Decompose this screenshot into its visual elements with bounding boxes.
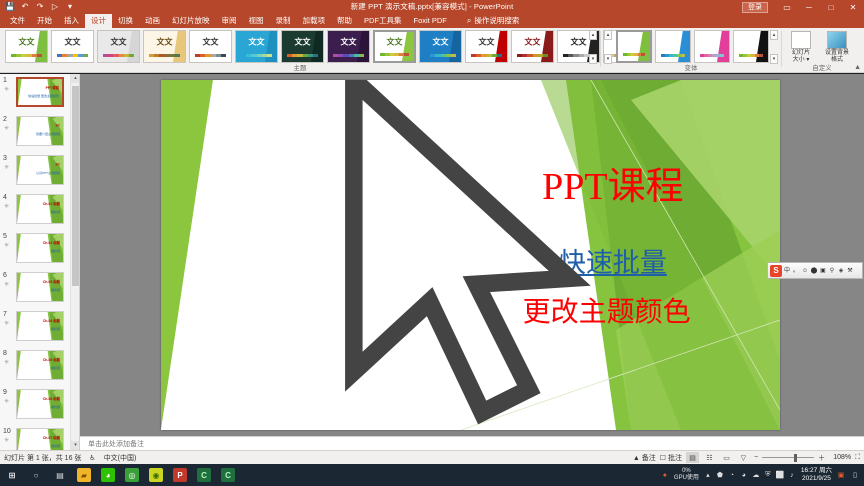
thumb-color-swatches [425, 54, 456, 57]
close-button[interactable]: ✕ [842, 0, 864, 14]
theme-thumbnail-2[interactable]: 文文 [97, 30, 140, 63]
slide-mini-title: PPT课程 [46, 86, 59, 90]
file-explorer-icon: ▰ [77, 468, 91, 482]
thumb-color-swatches [103, 54, 134, 57]
thumb-accent-shape [678, 31, 690, 62]
ribbon-tab-13[interactable]: Foxit PDF [408, 14, 453, 28]
slide-animation-indicator-icon: ✳ [4, 437, 9, 444]
ribbon-group-variants: ▴ ▾ ▴ ▾ 变体 [602, 28, 780, 73]
thumb-sample-text: 文文 [387, 37, 403, 48]
slide-thumbnail-item[interactable]: 8✳Ch-05 标题副标题 [0, 347, 79, 386]
slide-mini-subtitle: 副标题 [51, 327, 60, 331]
current-slide[interactable]: PPT课程 快速批量 更改主题颜色 [161, 80, 780, 430]
tray-network-icon[interactable]: ◔ [727, 469, 737, 481]
thumb-accent-shape [402, 32, 414, 61]
notes-toggle-label: 备注 [642, 455, 656, 462]
thumb-sample-text: 文文 [65, 37, 81, 48]
start-button-icon: ⊞ [5, 468, 19, 482]
lightbulb-icon: ⌕ [467, 17, 471, 25]
slide-size-icon [791, 31, 811, 49]
zoom-slider-track [762, 457, 814, 458]
slide-mini-title: PT [56, 124, 60, 128]
thumb-sample-text: 文文 [341, 37, 357, 48]
ime-screenshot-icon[interactable]: ▣ [819, 266, 827, 276]
thumb-color-swatches [739, 54, 763, 57]
slide-mini-graphic [17, 195, 63, 223]
zoom-in-button[interactable]: ＋ [818, 453, 825, 463]
thumb-sample-text: 文文 [203, 37, 219, 48]
color-swatch [681, 54, 685, 57]
thumb-accent-shape [717, 31, 729, 62]
format-background-label-2: 格式 [823, 57, 851, 64]
slide-mini-title: Ch-07 标题 [43, 436, 60, 440]
minimize-button[interactable]: ─ [798, 0, 820, 14]
tell-me-search[interactable]: ⌕操作说明搜索 [461, 14, 525, 28]
group-separator [600, 31, 601, 67]
ime-user-icon[interactable]: ⚲ [828, 266, 836, 276]
view-normal-button[interactable]: ▤ [686, 452, 699, 463]
thumb-color-swatches [623, 53, 645, 56]
sign-in-button[interactable]: 登录 [742, 2, 768, 13]
tray-app-icon[interactable]: ● [660, 469, 670, 481]
fit-slide-to-window-icon[interactable]: ⛶ [855, 454, 860, 462]
thumb-color-swatches [700, 54, 724, 57]
thumb-sample-text: 文文 [249, 37, 265, 48]
slide-number: 10 [3, 428, 11, 435]
ribbon-display-options-icon[interactable]: ▭ [776, 0, 798, 14]
ime-skin-icon[interactable]: ◈ [837, 266, 845, 276]
color-swatch [83, 54, 88, 57]
slide-animation-indicator-icon: ✳ [4, 242, 9, 249]
slide-number: 5 [3, 233, 7, 240]
theme-thumbnail-4[interactable]: 文文 [189, 30, 232, 63]
search-button[interactable]: ○ [24, 464, 48, 486]
slide-count-label: 幻灯片 第 1 张，共 16 张 [4, 453, 81, 463]
task-view-button[interactable]: ▤ [48, 464, 72, 486]
slide-mini-subtitle: 副标题 [51, 444, 60, 448]
group-label-customize: 自定义 [783, 65, 861, 73]
format-background-label-1: 设置背景 [823, 50, 851, 57]
slide-thumbnail-item[interactable]: 1✳PPT课程快速批量 更改主题颜色 [0, 74, 79, 113]
tray-onedrive-icon[interactable]: ☁ [751, 469, 761, 481]
slide-number: 2 [3, 116, 7, 123]
color-swatch [221, 54, 226, 57]
browser-button[interactable]: ◎ [120, 464, 144, 486]
thumb-sample-text: 文文 [525, 37, 541, 48]
slide-thumbnail-image: Ch-05 标题副标题 [16, 350, 64, 380]
slide-panel-scroll-up-icon[interactable]: ▴ [71, 74, 80, 83]
ime-punctuation-icon[interactable]: 。 [792, 266, 800, 276]
color-swatch [313, 54, 318, 57]
task-view-icon: ▤ [53, 468, 67, 482]
slide-mini-graphic [17, 117, 63, 145]
slide-number: 1 [3, 77, 7, 84]
slide-mini-graphic [17, 390, 63, 418]
thumb-accent-shape [173, 31, 185, 62]
tell-me-label: 操作说明搜索 [474, 17, 519, 25]
slide-number: 9 [3, 389, 7, 396]
variant-thumbnail-0[interactable] [616, 30, 652, 63]
slide-mini-subtitle: 快速批量 更改主题颜色 [28, 94, 59, 98]
taskbar-tray: ● 0% GPU使用 ▴⬟◔◕☁⛨⬜♪ 16:27 周六 2021/9/25 ▣… [660, 467, 864, 483]
slide-mini-graphic [17, 351, 63, 379]
ribbon-group-themes: 文文文文文文文文文文文文文文文文文文文文文文文文文文文文 ▴ ▾ 主题 [0, 28, 600, 73]
group-label-themes: 主题 [0, 65, 600, 73]
ribbon-tab-8[interactable]: 视图 [243, 14, 270, 28]
thumb-color-swatches [471, 54, 502, 57]
theme-gallery-scroll[interactable]: ▴ ▾ [589, 30, 597, 64]
slide-mini-subtitle: 简要介绍主题颜色 [36, 132, 60, 136]
slide-thumbnail-item[interactable]: 9✳Ch-06 标题副标题 [0, 386, 79, 425]
color-swatch [129, 54, 134, 57]
slide-number: 7 [3, 311, 7, 318]
color-swatch [37, 54, 42, 57]
wechat-icon: ◕ [101, 468, 115, 482]
window-title: 新建 PPT 演示文稿.pptx[兼容模式] - PowerPoint [0, 0, 864, 14]
slide-animation-indicator-icon: ✳ [4, 398, 9, 405]
theme-thumbnail-3[interactable]: 文文 [143, 30, 186, 63]
slide-number: 6 [3, 272, 7, 279]
slide-panel-scrollbar[interactable]: ▴ ▾ [70, 74, 79, 450]
thumb-color-swatches [241, 54, 272, 57]
camtasia-editor-icon: C [221, 468, 235, 482]
camtasia-icon: C [197, 468, 211, 482]
slide-mini-title: Ch-01 标题 [43, 202, 60, 206]
slide-mini-subtitle: 副标题 [51, 405, 60, 409]
variant-thumbnail-1[interactable] [655, 30, 691, 63]
slide-animation-indicator-icon: ✳ [4, 320, 9, 327]
thumb-sample-text: 文文 [19, 37, 35, 48]
slide-thumbnail-item[interactable]: 5✳Ch-02 标题副标题 [0, 230, 79, 269]
slide-thumbnail-item[interactable]: 10✳Ch-07 标题副标题 [0, 425, 79, 450]
variant-scroll-down-icon[interactable]: ▾ [770, 54, 778, 64]
ime-mode-chinese-icon[interactable]: 中 [783, 266, 791, 276]
slide-thumbnail-item[interactable]: 3✳PT认识PPT主题颜色 [0, 152, 79, 191]
thumb-color-swatches [380, 53, 409, 56]
variant-scroll-next-icon[interactable]: ▾ [604, 54, 612, 64]
ime-toolbox-icon[interactable]: ⚒ [846, 266, 854, 276]
format-background-icon [827, 31, 847, 49]
slide-mini-graphic [17, 312, 63, 340]
notes-toggle-button[interactable]: ▲ 备注 [633, 453, 656, 463]
ribbon-tab-5[interactable]: 动画 [139, 14, 166, 28]
tray-volume-icon[interactable]: ♪ [787, 469, 797, 481]
ime-floating-toolbar[interactable]: S 中。☺⬤▣⚲◈⚒ [767, 262, 863, 279]
status-bar: 幻灯片 第 1 张，共 16 张 ♿ 中文(中国) ▲ 备注 ☐ 批注 ▤ ☷ … [0, 450, 864, 464]
slide-mini-subtitle: 副标题 [51, 210, 60, 214]
thumb-accent-shape [357, 31, 369, 62]
gpu-usage-value: 0% [682, 468, 691, 474]
tray-display-icon[interactable]: ⬜ [775, 469, 785, 481]
theme-thumbnail-7[interactable]: 文文 [327, 30, 370, 63]
camtasia-button[interactable]: C [192, 464, 216, 486]
thumb-color-swatches [149, 54, 180, 57]
theme-thumbnail-8[interactable]: 文文 [373, 30, 416, 63]
collapse-ribbon-icon[interactable]: ▲ [854, 64, 861, 71]
powerpoint-button[interactable]: P [168, 464, 192, 486]
slide-number: 3 [3, 155, 7, 162]
ribbon-tab-1[interactable]: 开始 [31, 14, 58, 28]
tray-security-icon[interactable]: ⛨ [763, 469, 773, 481]
thumb-accent-shape [265, 31, 277, 62]
thumb-sample-text: 文文 [157, 37, 173, 48]
slide-panel-scroll-down-icon[interactable]: ▾ [71, 441, 80, 450]
slide-mini-title: Ch-03 标题 [43, 280, 60, 284]
slide-mini-graphic [18, 79, 62, 105]
tray-expand-icon[interactable]: ▴ [703, 469, 713, 481]
restore-button[interactable]: □ [820, 0, 842, 14]
ribbon-tab-10[interactable]: 加载项 [297, 14, 332, 28]
slide-thumbnail-image: Ch-04 标题副标题 [16, 311, 64, 341]
thumb-color-swatches [195, 54, 226, 57]
thumb-color-swatches [333, 54, 364, 57]
slide-mini-subtitle: 副标题 [51, 288, 60, 292]
slide-size-label-1: 幻灯片 [787, 50, 815, 57]
slide-thumbnail-image: Ch-03 标题副标题 [16, 272, 64, 302]
ribbon-tab-11[interactable]: 帮助 [331, 14, 358, 28]
slide-thumbnail-item[interactable]: 7✳Ch-04 标题副标题 [0, 308, 79, 347]
ime-button-row: 中。☺⬤▣⚲◈⚒ [783, 266, 854, 276]
thumb-color-swatches [57, 54, 88, 57]
group-separator-2 [781, 31, 782, 67]
ribbon-tab-7[interactable]: 审阅 [216, 14, 243, 28]
start-button-button[interactable]: ⊞ [0, 464, 24, 486]
tray-usb-icon[interactable]: ⬟ [715, 469, 725, 481]
comments-toggle-label: 批注 [668, 455, 682, 462]
ribbon-tab-2[interactable]: 插入 [58, 14, 85, 28]
thumb-accent-shape [756, 31, 768, 62]
slide-mini-title: Ch-02 标题 [43, 241, 60, 245]
thumb-accent-shape [541, 31, 553, 62]
slide-number: 8 [3, 350, 7, 357]
theme-gallery-scroll-up-icon[interactable]: ▴ [589, 30, 597, 40]
ribbon-tab-9[interactable]: 录制 [270, 14, 297, 28]
taskbar-clock[interactable]: 16:27 周六 2021/9/25 [801, 467, 832, 483]
slide-editing-stage: PPT课程 快速批量 更改主题颜色 单击此处添加备注 [80, 74, 864, 450]
thumb-color-swatches [11, 54, 42, 57]
action-center-icon[interactable]: ▯ [850, 469, 860, 481]
360-icon: ◉ [149, 468, 163, 482]
theme-gallery-scroll-down-icon[interactable]: ▾ [589, 54, 597, 64]
tray-icon-row: ▴⬟◔◕☁⛨⬜♪ [703, 469, 797, 481]
slide-mini-graphic [17, 156, 63, 184]
theme-thumbnail-5[interactable]: 文文 [235, 30, 278, 63]
thumb-sample-text: 文文 [295, 37, 311, 48]
clock-time: 16:27 周六 [801, 467, 832, 474]
slide-thumbnail-image: PT认识PPT主题颜色 [16, 155, 64, 185]
taskbar-app-list: ⊞○▤▰◕◎◉PCC [0, 464, 240, 486]
variant-gallery[interactable] [616, 30, 769, 63]
comments-toggle-button[interactable]: ☐ 批注 [660, 453, 682, 463]
slide-mini-graphic [17, 234, 63, 262]
slide-animation-indicator-icon: ✳ [4, 281, 9, 288]
slide-thumbnail-item[interactable]: 6✳Ch-03 标题副标题 [0, 269, 79, 308]
view-slideshow-button[interactable]: ▽ [737, 452, 750, 463]
thumb-color-swatches [287, 54, 318, 57]
color-swatch [359, 54, 364, 57]
status-bar-left: 幻灯片 第 1 张，共 16 张 ♿ 中文(中国) [0, 453, 136, 463]
slide-animation-indicator-icon: ✳ [4, 164, 9, 171]
search-icon: ○ [29, 468, 43, 482]
color-swatch [759, 54, 763, 57]
gpu-usage-indicator[interactable]: 0% GPU使用 [674, 468, 699, 482]
variant-scroll-up-icon[interactable]: ▴ [770, 30, 778, 40]
ribbon-tab-4[interactable]: 切换 [112, 14, 139, 28]
title-bar: 💾 ↶ ↷ ▷ ▾ 新建 PPT 演示文稿.pptx[兼容模式] - Power… [0, 0, 864, 14]
notes-placeholder: 单击此处添加备注 [88, 439, 144, 449]
theme-thumbnail-1[interactable]: 文文 [51, 30, 94, 63]
view-reading-button[interactable]: ▭ [720, 452, 733, 463]
variant-thumbnail-3[interactable] [733, 30, 769, 63]
slide-mini-title: Ch-04 标题 [43, 319, 60, 323]
windows-taskbar: ⊞○▤▰◕◎◉PCC ● 0% GPU使用 ▴⬟◔◕☁⛨⬜♪ 16:27 周六 … [0, 464, 864, 486]
slide-number: 4 [3, 194, 7, 201]
color-swatch [720, 54, 724, 57]
slide-thumbnail-image: Ch-01 标题副标题 [16, 194, 64, 224]
thumb-accent-shape [449, 31, 461, 62]
thumb-accent-shape [638, 32, 650, 61]
sogou-ime-logo-icon[interactable]: S [770, 265, 782, 277]
thumb-color-swatches [517, 54, 548, 57]
clock-date: 2021/9/25 [802, 475, 831, 482]
color-swatch [267, 54, 272, 57]
slide-thumbnail-item[interactable]: 4✳Ch-01 标题副标题 [0, 191, 79, 230]
slide-mini-title: Ch-06 标题 [43, 397, 60, 401]
color-swatch [497, 54, 502, 57]
slide-thumbnail-image: Ch-02 标题副标题 [16, 233, 64, 263]
ribbon-tab-0[interactable]: 文件 [4, 14, 31, 28]
color-swatch [543, 54, 548, 57]
slide-thumbnail-panel[interactable]: 1✳PPT课程快速批量 更改主题颜色2✳PT简要介绍主题颜色3✳PT认识PPT主… [0, 74, 80, 450]
slide-animation-indicator-icon: ✳ [4, 203, 9, 210]
ribbon-group-customize: 幻灯片 大小 ▾ 设置背景 格式 自定义 [783, 28, 861, 73]
slide-thumbnail-image: PT简要介绍主题颜色 [16, 116, 64, 146]
slide-mini-title: Ch-05 标题 [43, 358, 60, 362]
zoom-out-button[interactable]: − [754, 454, 758, 461]
thumb-sample-text: 文文 [571, 37, 587, 48]
zoom-slider-knob[interactable] [794, 454, 797, 462]
group-label-variants: 变体 [602, 65, 780, 73]
color-swatch [641, 53, 645, 56]
360-button[interactable]: ◉ [144, 464, 168, 486]
zoom-slider[interactable] [762, 452, 814, 463]
color-swatch [404, 53, 409, 56]
ime-voice-icon[interactable]: ⬤ [810, 266, 818, 276]
notification-badge-icon[interactable]: ▣ [836, 469, 846, 481]
slide-size-button[interactable]: 幻灯片 大小 ▾ [787, 31, 815, 64]
tray-wechat-icon[interactable]: ◕ [739, 469, 749, 481]
theme-thumbnail-6[interactable]: 文文 [281, 30, 324, 63]
color-swatch [175, 54, 180, 57]
slide-thumbnail-list: 1✳PPT课程快速批量 更改主题颜色2✳PT简要介绍主题颜色3✳PT认识PPT主… [0, 74, 79, 450]
slide-thumbnail-image: PPT课程快速批量 更改主题颜色 [16, 77, 64, 107]
slide-animation-indicator-icon: ✳ [4, 359, 9, 366]
slide-panel-scroll-thumb[interactable] [72, 86, 79, 286]
powerpoint-window: 💾 ↶ ↷ ▷ ▾ 新建 PPT 演示文稿.pptx[兼容模式] - Power… [0, 0, 864, 486]
language-label[interactable]: 中文(中国) [104, 453, 137, 463]
variant-scroll-prev-icon[interactable]: ▴ [604, 30, 612, 40]
theme-thumbnail-9[interactable]: 文文 [419, 30, 462, 63]
slide-mini-subtitle: 副标题 [51, 249, 60, 253]
ribbon-tab-3[interactable]: 设计 [85, 14, 112, 28]
ime-emoji-icon[interactable]: ☺ [801, 266, 809, 276]
slide-thumbnail-image: Ch-07 标题副标题 [16, 428, 64, 450]
window-controls: 登录 ▭ ─ □ ✕ [742, 0, 864, 14]
notes-pane[interactable]: 单击此处添加备注 [80, 436, 864, 450]
ribbon: 文文文文文文文文文文文文文文文文文文文文文文文文文文文文 ▴ ▾ 主题 ▴ ▾ … [0, 28, 864, 73]
view-slide-sorter-button[interactable]: ☷ [703, 452, 716, 463]
thumb-sample-text: 文文 [479, 37, 495, 48]
slide-mini-subtitle: 认识PPT主题颜色 [36, 171, 60, 175]
ribbon-tab-strip: 文件开始插入设计切换动画幻灯片放映审阅视图录制加载项帮助PDF工具集Foxit … [0, 14, 864, 28]
variant-thumbnail-2[interactable] [694, 30, 730, 63]
variant-scroll-left-group[interactable]: ▴ ▾ [604, 30, 612, 64]
color-swatch [451, 54, 456, 57]
status-bar-right: ▲ 备注 ☐ 批注 ▤ ☷ ▭ ▽ − ＋ 108% ⛶ [633, 452, 864, 463]
slide-mini-title: PT [56, 163, 60, 167]
slide-size-label-2: 大小 ▾ [787, 57, 815, 64]
slide-animation-indicator-icon: ✳ [4, 125, 9, 132]
theme-thumbnail-10[interactable]: 文文 [465, 30, 508, 63]
camtasia-editor-button[interactable]: C [216, 464, 240, 486]
thumb-sample-text: 文文 [433, 37, 449, 48]
powerpoint-icon: P [173, 468, 187, 482]
zoom-level-label[interactable]: 108% [829, 454, 851, 461]
ribbon-tab-6[interactable]: 幻灯片放映 [166, 14, 216, 28]
thumb-sample-text: 文文 [111, 37, 127, 48]
slide-mini-graphic [17, 273, 63, 301]
wechat-button[interactable]: ◕ [96, 464, 120, 486]
variant-gallery-scroll[interactable]: ▴ ▾ [770, 30, 778, 64]
theme-thumbnail-11[interactable]: 文文 [511, 30, 554, 63]
thumb-accent-shape [127, 31, 139, 62]
mouse-cursor-icon [161, 80, 780, 430]
slide-thumbnail-image: Ch-06 标题副标题 [16, 389, 64, 419]
thumb-accent-shape [495, 31, 507, 62]
thumb-accent-shape [35, 31, 47, 62]
slide-thumbnail-item[interactable]: 2✳PT简要介绍主题颜色 [0, 113, 79, 152]
theme-thumbnail-0[interactable]: 文文 [5, 30, 48, 63]
slide-mini-subtitle: 副标题 [51, 366, 60, 370]
browser-icon: ◎ [125, 468, 139, 482]
file-explorer-button[interactable]: ▰ [72, 464, 96, 486]
slide-animation-indicator-icon: ✳ [4, 86, 9, 93]
thumb-accent-shape [311, 31, 323, 62]
theme-gallery[interactable]: 文文文文文文文文文文文文文文文文文文文文文文文文文文文文 [5, 30, 646, 63]
format-background-button[interactable]: 设置背景 格式 [823, 31, 851, 64]
accessibility-icon[interactable]: ♿ [89, 454, 95, 462]
ribbon-tab-12[interactable]: PDF工具集 [358, 14, 408, 28]
thumb-color-swatches [661, 54, 685, 57]
gpu-usage-label: GPU使用 [674, 475, 699, 481]
